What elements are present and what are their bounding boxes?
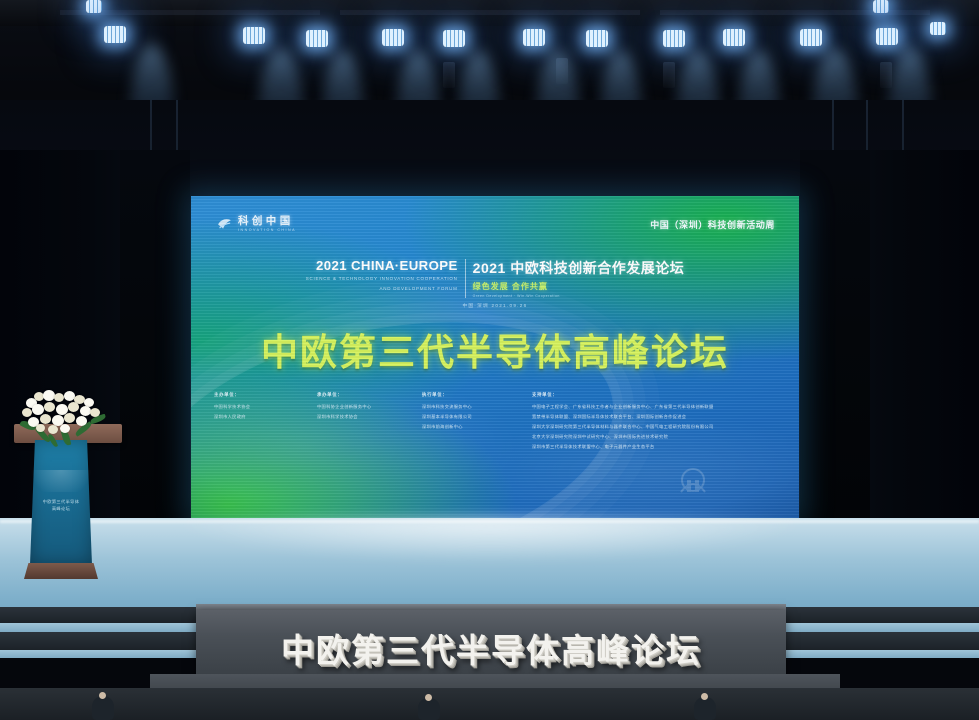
- header-divider: [465, 259, 466, 298]
- flower-petal: [32, 404, 44, 415]
- forum-subtitle-en-line1: SCIENCE & TECHNOLOGY INNOVATION COOPERAT…: [306, 276, 458, 283]
- executor-column: 执行单位： 深圳市科技交流服务中心 深圳基本半导体有限公司 深圳市前海创新中心: [422, 392, 532, 454]
- executor-heading: 执行单位：: [422, 392, 532, 398]
- stage-light-icon: [243, 27, 265, 44]
- podium-base: [24, 563, 98, 579]
- stage-light-icon: [86, 0, 102, 13]
- flower-petal: [48, 425, 58, 434]
- brand-name-en: INNOVATION CHINA: [238, 229, 296, 233]
- stage-light-icon: [800, 29, 822, 46]
- flower-petal: [40, 414, 51, 424]
- podium-label-line2: 高峰论坛: [30, 505, 92, 512]
- stage-light-icon: [723, 29, 745, 46]
- truss-bar: [660, 10, 930, 15]
- flower-petal: [44, 402, 55, 412]
- stage-step-tread: [0, 623, 200, 632]
- stage-step: [0, 632, 200, 650]
- stage-photograph: 科创中国 INNOVATION CHINA 中国（深圳）科技创新活动周 2021…: [0, 0, 979, 720]
- floor-light-reflection: [120, 518, 860, 580]
- stage-step: [782, 607, 979, 623]
- leaf: [48, 433, 58, 448]
- truss-bar: [340, 10, 640, 15]
- supporter-line: 深圳大学深圳研究院第三代半导体材料与器件联合中心、中国气电工程研究院股份有限公司: [532, 424, 714, 429]
- flower-petal: [54, 393, 64, 402]
- screen-content: 科创中国 INNOVATION CHINA 中国（深圳）科技创新活动周 2021…: [191, 196, 799, 518]
- organization-block: 主办单位： 中国科学技术协会 深圳市人民政府 承办单位： 中国科协企业创新服务中…: [214, 392, 783, 454]
- stage-light-icon: [873, 0, 889, 13]
- audience-silhouette: [92, 696, 114, 720]
- flower-petal: [64, 413, 75, 423]
- foreground-audience-area: [0, 688, 979, 720]
- supporter-line: 深圳市第三代半导体技术联盟中心、电子元器件产业生态平台: [532, 444, 714, 449]
- brand-logo: 科创中国 INNOVATION CHINA: [216, 216, 296, 233]
- podium-label: 中欧第三代半导体 高峰论坛: [30, 498, 92, 512]
- stage-step: [782, 632, 979, 650]
- audience-head: [701, 693, 708, 700]
- executor-line: 深圳市前海创新中心: [422, 424, 532, 429]
- stage-light-icon: [876, 28, 898, 45]
- activity-week-label: 中国（深圳）科技创新活动周: [650, 218, 775, 231]
- organizer-column: 主办单位： 中国科学技术协会 深圳市人民政府: [214, 392, 317, 454]
- light-fixture-body: [663, 62, 675, 88]
- supporter-column: 支持单位： 中国电子工程学会、广东省科技工作者与企业创新服务中心、广东省第三代半…: [532, 392, 714, 454]
- floor-front-edge: [0, 520, 979, 523]
- co-organizer-line: 中国科协企业创新服务中心: [317, 404, 422, 409]
- event-date-location: 中国·深圳 2021.09.26: [191, 303, 799, 309]
- light-fixture-body: [443, 62, 455, 88]
- stage-light-icon: [930, 22, 946, 35]
- organizer-line: 深圳市人民政府: [214, 414, 317, 419]
- stage-light-icon: [443, 30, 465, 47]
- screen-left-bezel: [120, 150, 190, 550]
- stage-step-tread: [0, 650, 200, 658]
- flower-petal: [90, 408, 100, 417]
- audience-silhouette: [418, 698, 440, 720]
- forum-header: 2021 CHINA·EUROPE SCIENCE & TECHNOLOGY I…: [191, 258, 799, 298]
- flower-petal: [60, 424, 70, 433]
- forum-slogan-cn: 绿色发展 合作共赢: [473, 281, 685, 292]
- screen-right-bezel: [800, 150, 870, 550]
- executor-line: 深圳市科技交流服务中心: [422, 404, 532, 409]
- led-display-screen: 科创中国 INNOVATION CHINA 中国（深圳）科技创新活动周 2021…: [191, 196, 799, 518]
- stage-light-icon: [382, 29, 404, 46]
- organizer-line: 中国科学技术协会: [214, 404, 317, 409]
- stage-light-icon: [663, 30, 685, 47]
- forum-title-cn: 2021 中欧科技创新合作发展论坛: [473, 258, 685, 278]
- co-organizer-heading: 承办单位：: [317, 392, 422, 398]
- forum-title-en: 2021 CHINA·EUROPE: [306, 258, 458, 273]
- co-organizer-line: 深圳市科学技术协会: [317, 414, 422, 419]
- stage-step: [0, 607, 200, 623]
- main-forum-title: 中欧第三代半导体高峰论坛: [191, 322, 799, 376]
- forum-header-english: 2021 CHINA·EUROPE SCIENCE & TECHNOLOGY I…: [306, 258, 465, 293]
- audience-silhouette: [694, 697, 716, 720]
- supporter-line: 宽禁带半导体联盟、深圳国际半导体技术联合平台、深圳国际创新合作促进会: [532, 414, 714, 419]
- brand-name-cn: 科创中国: [238, 216, 296, 227]
- flower-petal: [36, 424, 45, 432]
- forum-header-chinese: 2021 中欧科技创新合作发展论坛 绿色发展 合作共赢 Green Develo…: [473, 258, 685, 298]
- podium-highlight: [30, 470, 92, 492]
- stage-light-icon: [523, 29, 545, 46]
- stage-light-icon: [586, 30, 608, 47]
- stage-step-tread: [782, 650, 979, 658]
- innovation-bird-icon: [216, 216, 233, 233]
- supporter-line: 中国电子工程学会、广东省科技工作者与企业创新服务中心、广东省第三代半导体创新联盟: [532, 404, 714, 409]
- audience-head: [99, 692, 106, 699]
- forum-subtitle-en-line2: AND DEVELOPMENT FORUM: [306, 286, 458, 293]
- flower-petal: [68, 402, 79, 412]
- flower-arrangement: [12, 388, 122, 448]
- podium-label-line1: 中欧第三代半导体: [30, 498, 92, 505]
- stage-light-icon: [104, 26, 126, 43]
- supporter-line: 北京大学深圳研究院深圳中试研究中心、深圳市国际先进技术研究院: [532, 434, 714, 439]
- flower-petal: [76, 416, 87, 426]
- stage-light-icon: [306, 30, 328, 47]
- audience-head: [425, 694, 432, 701]
- forum-slogan-en: Green Development · Win-Win Cooperation: [473, 294, 685, 298]
- stage-front-panel: 中欧第三代半导体高峰论坛: [196, 610, 786, 674]
- executor-line: 深圳基本半导体有限公司: [422, 414, 532, 419]
- stage-marquee-title: 中欧第三代半导体高峰论坛: [196, 624, 786, 672]
- flower-petal: [22, 408, 32, 417]
- stage-right-wing: [860, 150, 979, 570]
- supporter-heading: 支持单位：: [532, 392, 714, 398]
- organizer-heading: 主办单位：: [214, 392, 317, 398]
- co-organizer-column: 承办单位： 中国科协企业创新服务中心 深圳市科学技术协会: [317, 392, 422, 454]
- stage-step-tread: [782, 623, 979, 632]
